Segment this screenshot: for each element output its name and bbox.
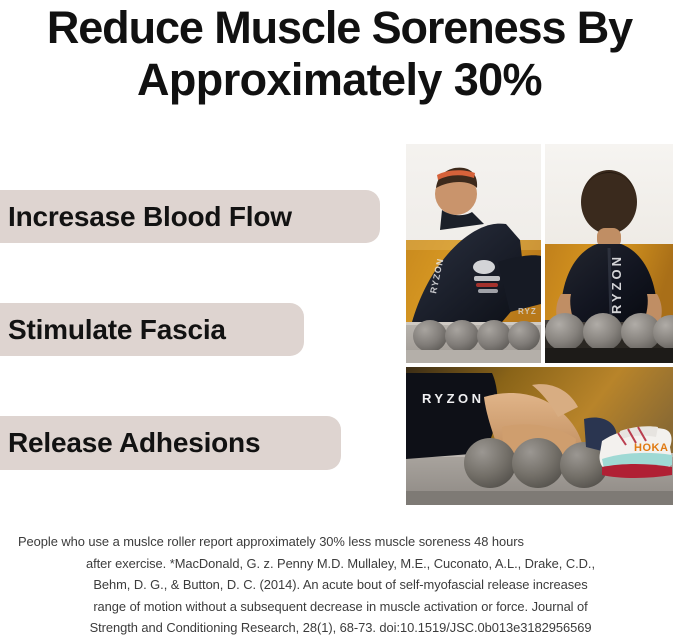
svg-text:RYZ: RYZ [518,307,537,316]
page-title-line-2: Approximately 30% [0,54,679,106]
photo-calf-roll-with-running-shoe: RYZON HOKA [406,367,673,505]
benefit-pill-increase-blood-flow: Incresase Blood Flow [0,190,380,243]
page-title: Reduce Muscle Soreness By Approximately … [0,2,679,106]
benefit-pill-label: Release Adhesions [8,428,260,458]
footnote-line-5: Strength and Conditioning Research, 28(1… [18,617,663,639]
svg-text:RYZON: RYZON [609,254,624,314]
page-title-line-1: Reduce Muscle Soreness By [0,2,679,54]
svg-text:HOKA: HOKA [634,442,668,454]
benefit-pill-label: Stimulate Fascia [8,315,226,345]
photo-athlete-side-plank-on-roller: RYZON RYZ [406,144,541,363]
benefit-pill-label: Incresase Blood Flow [8,202,292,232]
svg-text:RYZON: RYZON [422,391,485,406]
photo-athlete-back-on-roller: RYZON [545,144,673,363]
photo-collage: RYZON RYZ [406,144,673,505]
footnote-line-2: after exercise. *MacDonald, G. z. Penny … [18,553,663,575]
footnote-line-3: Behm, D. G., & Button, D. C. (2014). An … [18,574,663,596]
footnote-line-1: People who use a muslce roller report ap… [18,531,663,553]
benefit-pill-stimulate-fascia: Stimulate Fascia [0,303,304,356]
benefit-pill-release-adhesions: Release Adhesions [0,416,341,470]
footnote-line-4: range of motion without a subsequent dec… [18,596,663,618]
footnote-citation: People who use a muslce roller report ap… [18,531,663,639]
